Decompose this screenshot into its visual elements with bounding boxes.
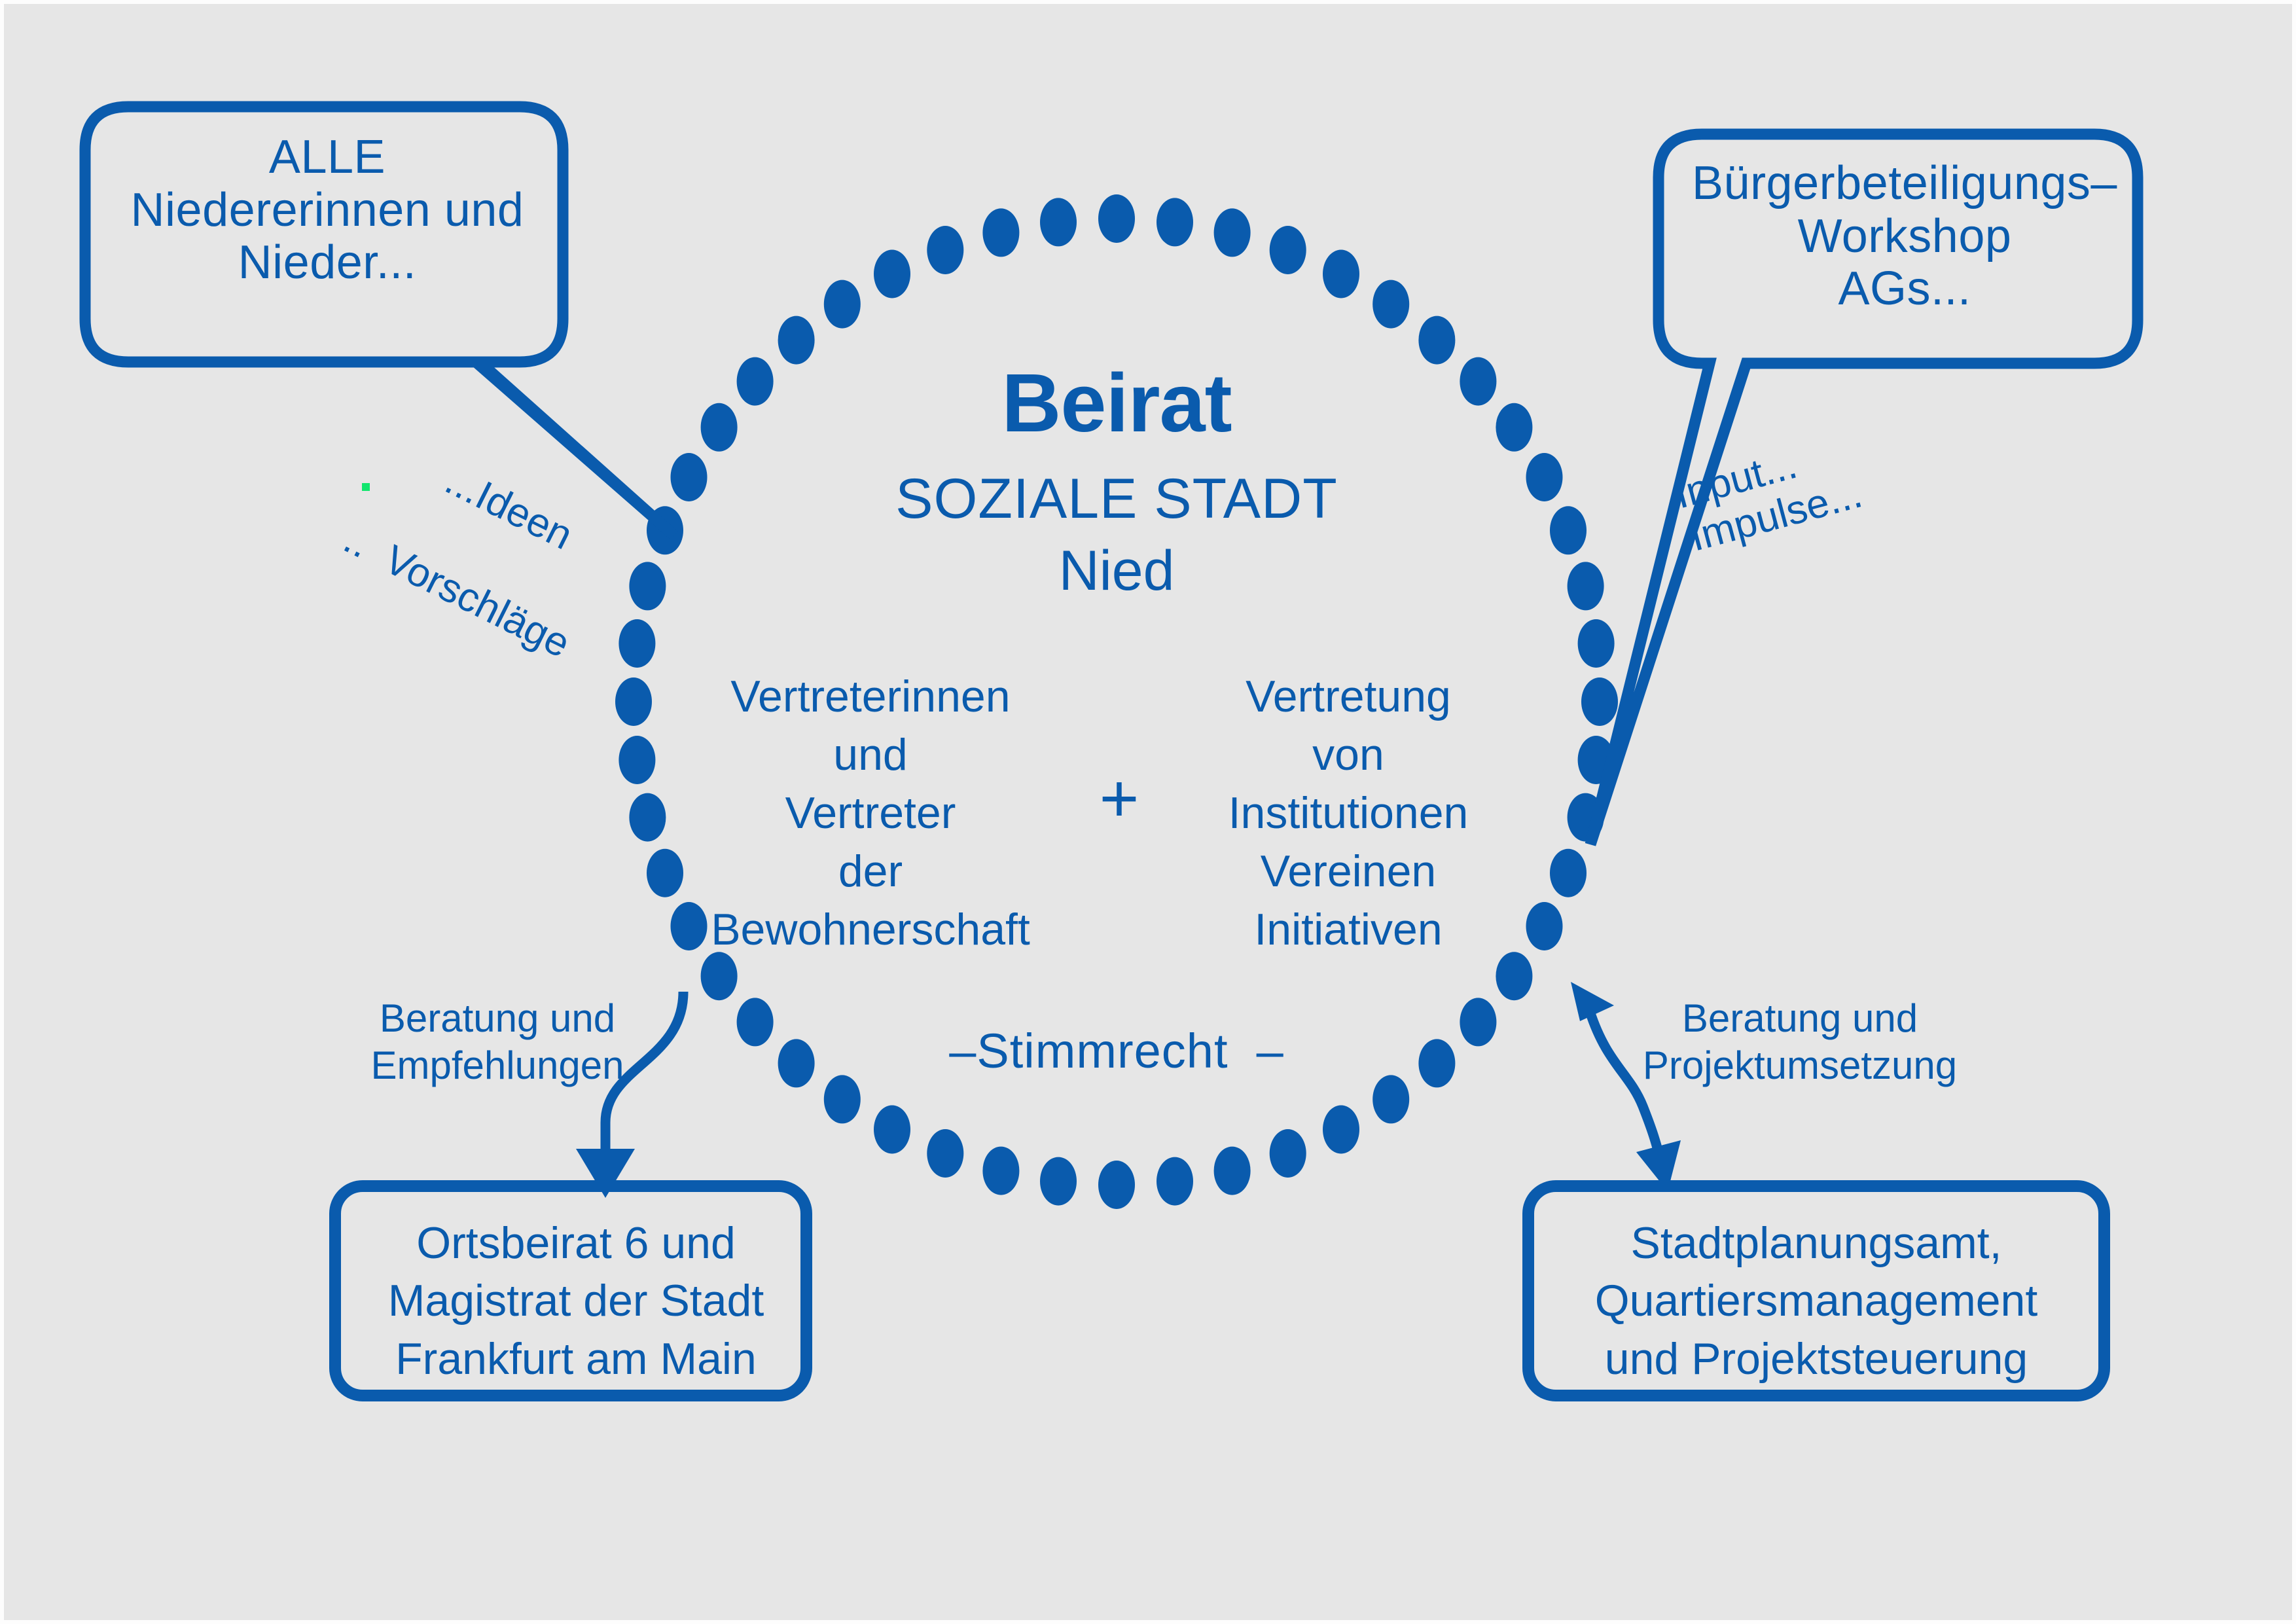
circle-dot bbox=[1098, 1161, 1135, 1209]
arrow-right-label: Beratung und Projektumsetzung bbox=[1630, 995, 1970, 1089]
circle-dot bbox=[778, 1039, 815, 1087]
circle-dot bbox=[1214, 208, 1251, 257]
circle-dot bbox=[671, 453, 708, 501]
circle-dot bbox=[629, 562, 666, 610]
circle-dot bbox=[1550, 849, 1587, 897]
column-right-members: Vertretung von Institutionen Vereinen In… bbox=[1185, 668, 1512, 959]
circle-dot bbox=[824, 280, 861, 329]
circle-dot bbox=[927, 226, 963, 274]
circle-dot bbox=[1550, 506, 1587, 554]
plus-icon: + bbox=[1073, 765, 1165, 833]
circle-dot bbox=[615, 677, 652, 726]
circle-dot bbox=[874, 1106, 910, 1154]
circle-dot bbox=[737, 998, 774, 1046]
circle-dot bbox=[1214, 1147, 1251, 1195]
circle-dot bbox=[1568, 562, 1604, 610]
circle-dot bbox=[1460, 357, 1496, 406]
arrow-right-head-up bbox=[1571, 982, 1614, 1021]
circle-dot bbox=[1157, 198, 1193, 246]
arrow-left-label: Beratung und Empfehlungen bbox=[347, 995, 648, 1089]
circle-dot bbox=[1040, 198, 1077, 246]
circle-dot bbox=[1323, 1106, 1359, 1154]
circle-dot bbox=[1270, 1129, 1306, 1178]
circle-dot bbox=[1098, 194, 1135, 243]
circle-dot bbox=[1323, 250, 1359, 298]
box-right-label: Stadtplanungsamt, Quartiersmanagement un… bbox=[1528, 1214, 2104, 1388]
circle-dot bbox=[982, 1147, 1019, 1195]
circle-dot bbox=[1496, 403, 1532, 452]
center-subtitle-line2: Nied bbox=[789, 539, 1444, 602]
circle-dot bbox=[1581, 677, 1618, 726]
circle-dot bbox=[701, 403, 738, 452]
circle-dot bbox=[629, 793, 666, 842]
circle-dot bbox=[619, 619, 655, 668]
circle-dot bbox=[982, 208, 1019, 257]
circle-dot bbox=[874, 250, 910, 298]
circle-dot bbox=[1372, 280, 1409, 329]
circle-dot bbox=[1578, 619, 1615, 668]
circle-dot bbox=[1526, 453, 1563, 501]
box-left-label: Ortsbeirat 6 und Magistrat der Stadt Fra… bbox=[334, 1214, 818, 1388]
circle-dot bbox=[647, 849, 683, 897]
center-subtitle-line1: SOZIALE STADT bbox=[789, 467, 1444, 530]
circle-dot bbox=[927, 1129, 963, 1178]
circle-dot bbox=[1460, 998, 1496, 1046]
stimmrecht-label: –Stimmrecht – bbox=[920, 1024, 1313, 1079]
bubble-right-label: Bürgerbeteiligungs– Workshop AGs... bbox=[1676, 157, 2134, 316]
green-speck-artifact bbox=[362, 483, 370, 491]
bubble-left-label: ALLE Niedererinnen und Nieder... bbox=[98, 131, 556, 289]
diagram-canvas: ALLE Niedererinnen und Nieder... Bürgerb… bbox=[0, 0, 2296, 1624]
circle-dot bbox=[1270, 226, 1306, 274]
circle-dot bbox=[1040, 1157, 1077, 1206]
circle-dot bbox=[619, 736, 655, 784]
circle-dot bbox=[737, 357, 774, 406]
circle-dot bbox=[1372, 1075, 1409, 1123]
column-left-members: Vertreterinnen und Vertreter der Bewohne… bbox=[694, 668, 1047, 959]
center-title: Beirat bbox=[789, 357, 1444, 449]
circle-dot bbox=[1526, 902, 1563, 950]
circle-dot bbox=[824, 1075, 861, 1123]
circle-dot bbox=[1157, 1157, 1193, 1206]
circle-dot bbox=[1418, 1039, 1455, 1087]
